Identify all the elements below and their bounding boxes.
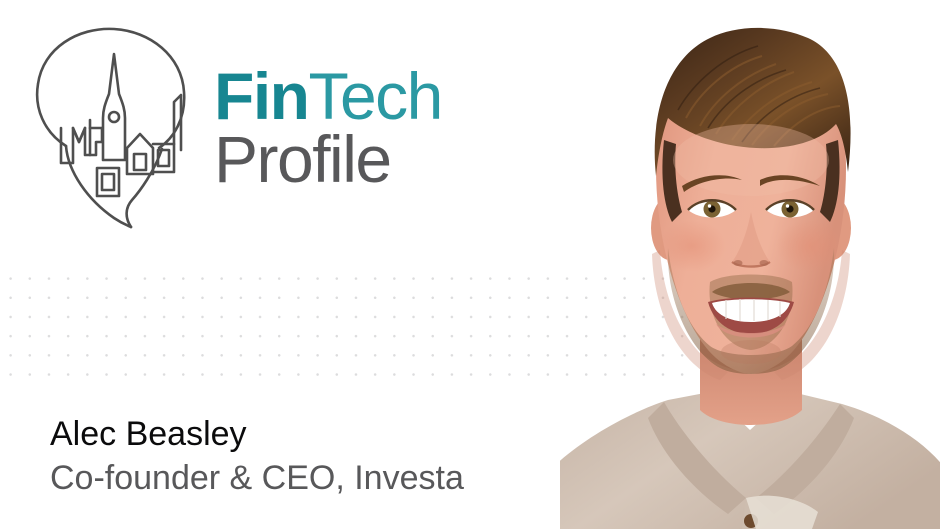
person-name-block: Alec Beasley Co-founder & CEO, Investa <box>50 412 464 500</box>
wordmark-line-fintech: FinTech <box>214 66 442 127</box>
person-role: Co-founder & CEO, Investa <box>50 456 464 500</box>
brand-logo-lockup: FinTech Profile <box>28 18 468 238</box>
speech-bubble-skyline-logo-icon <box>28 22 200 234</box>
person-name: Alec Beasley <box>50 412 464 456</box>
wordmark-profile: Profile <box>214 129 442 190</box>
fintech-profile-slide: FinTech Profile Alec Beasley Co-founder … <box>0 0 940 529</box>
brand-wordmark: FinTech Profile <box>214 66 442 189</box>
portrait-illustration <box>560 0 940 529</box>
portrait-photo <box>560 0 940 529</box>
